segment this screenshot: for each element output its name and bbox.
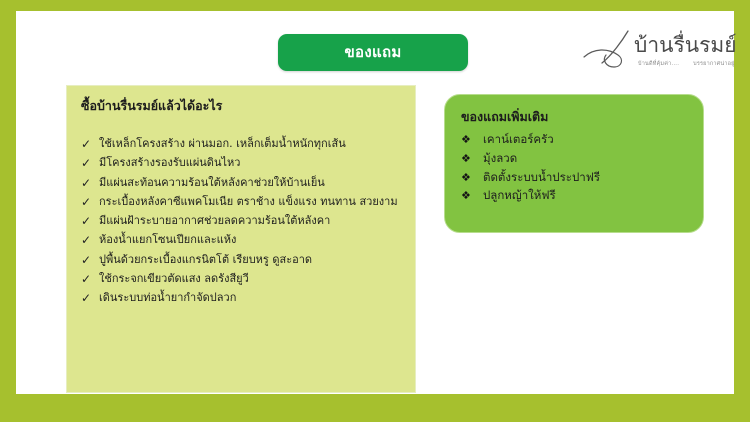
extras-list: ❖ เคาน์เตอร์ครัว ❖ มุ้งลวด ❖ ติดตั้งระบบ… [461, 133, 693, 208]
list-item: ✓ ใช้กระจกเขียวตัดแสง ลดรังสียูวี [81, 273, 407, 287]
list-item: ❖ ปลูกหญ้าให้ฟรี [461, 189, 693, 203]
list-item-label: กระเบื้องหลังคาซีแพคโมเนีย ตราช้าง แข็งแ… [99, 196, 407, 209]
diamond-cluster-icon: ❖ [461, 152, 483, 166]
list-item: ✓ ห้องน้ำแยกโซนเปียกและแห้ง [81, 234, 407, 248]
brand-tagline: บ้านดีที่คุ้มค่า.... บรรยากาศน่าอยู่ [638, 62, 735, 68]
list-item: ❖ มุ้งลวด [461, 152, 693, 166]
list-item-label: ห้องน้ำแยกโซนเปียกและแห้ง [99, 234, 407, 247]
brand-tagline-right: บรรยากาศน่าอยู่ [693, 61, 734, 67]
extras-panel: ของแถมเพิ่มเติม ❖ เคาน์เตอร์ครัว ❖ มุ้งล… [444, 94, 704, 233]
list-item: ❖ เคาน์เตอร์ครัว [461, 133, 693, 147]
benefits-list: ✓ ใช้เหล็กโครงสร้าง ผ่านมอก. เหล็กเต็มน้… [81, 138, 407, 312]
list-item: ✓ กระเบื้องหลังคาซีแพคโมเนีย ตราช้าง แข็… [81, 196, 407, 210]
list-item: ✓ เดินระบบท่อน้ำยากำจัดปลวก [81, 292, 407, 306]
list-item-label: มีแผ่นฝ้าระบายอากาศช่วยลดความร้อนใต้หลัง… [99, 215, 407, 228]
list-item-label: ปูพื้นด้วยกระเบื้องแกรนิตโต้ เรียบหรู ดู… [99, 254, 407, 267]
brand-name: บ้านรื่นรมย์ [634, 35, 737, 56]
extras-panel-heading: ของแถมเพิ่มเติม [461, 111, 548, 124]
check-icon: ✓ [81, 157, 99, 171]
slide-frame: ของแถม บ้านรื่นรมย์ บ้านดีที่คุ้มค่า....… [0, 0, 750, 422]
list-item-label: มีโครงสร้างรองรับแผ่นดินไหว [99, 157, 407, 170]
list-item-label: ใช้เหล็กโครงสร้าง ผ่านมอก. เหล็กเต็มน้ำห… [99, 138, 407, 151]
check-icon: ✓ [81, 138, 99, 152]
diamond-cluster-icon: ❖ [461, 189, 483, 203]
benefits-panel: ซื้อบ้านรื่นรมย์แล้วได้อะไร ✓ ใช้เหล็กโค… [66, 85, 416, 393]
check-icon: ✓ [81, 292, 99, 306]
check-icon: ✓ [81, 254, 99, 268]
list-item: ✓ ปูพื้นด้วยกระเบื้องแกรนิตโต้ เรียบหรู … [81, 254, 407, 268]
brand-tagline-left: บ้านดีที่คุ้มค่า.... [638, 61, 679, 67]
list-item: ✓ มีโครงสร้างรองรับแผ่นดินไหว [81, 157, 407, 171]
list-item-label: ติดตั้งระบบน้ำประปาฟรี [483, 171, 693, 185]
diamond-cluster-icon: ❖ [461, 133, 483, 147]
list-item-label: เคาน์เตอร์ครัว [483, 133, 693, 147]
list-item-label: มีแผ่นสะท้อนความร้อนใต้หลังคาช่วยให้บ้าน… [99, 177, 407, 190]
list-item: ❖ ติดตั้งระบบน้ำประปาฟรี [461, 171, 693, 185]
list-item-label: ใช้กระจกเขียวตัดแสง ลดรังสียูวี [99, 273, 407, 286]
list-item: ✓ ใช้เหล็กโครงสร้าง ผ่านมอก. เหล็กเต็มน้… [81, 138, 407, 152]
list-item-label: เดินระบบท่อน้ำยากำจัดปลวก [99, 292, 407, 305]
list-item: ✓ มีแผ่นฝ้าระบายอากาศช่วยลดความร้อนใต้หล… [81, 215, 407, 229]
page-title: ของแถม [344, 45, 401, 60]
check-icon: ✓ [81, 215, 99, 229]
check-icon: ✓ [81, 234, 99, 248]
benefits-panel-heading: ซื้อบ้านรื่นรมย์แล้วได้อะไร [81, 100, 222, 113]
slide-canvas: ของแถม บ้านรื่นรมย์ บ้านดีที่คุ้มค่า....… [16, 11, 734, 394]
list-item-label: ปลูกหญ้าให้ฟรี [483, 189, 693, 203]
list-item-label: มุ้งลวด [483, 152, 693, 166]
check-icon: ✓ [81, 196, 99, 210]
list-item: ✓ มีแผ่นสะท้อนความร้อนใต้หลังคาช่วยให้บ้… [81, 177, 407, 191]
diamond-cluster-icon: ❖ [461, 171, 483, 185]
check-icon: ✓ [81, 177, 99, 191]
slide-title-pill: ของแถม [278, 34, 468, 71]
check-icon: ✓ [81, 273, 99, 287]
brand-logo: บ้านรื่นรมย์ บ้านดีที่คุ้มค่า.... บรรยาก… [582, 29, 750, 81]
